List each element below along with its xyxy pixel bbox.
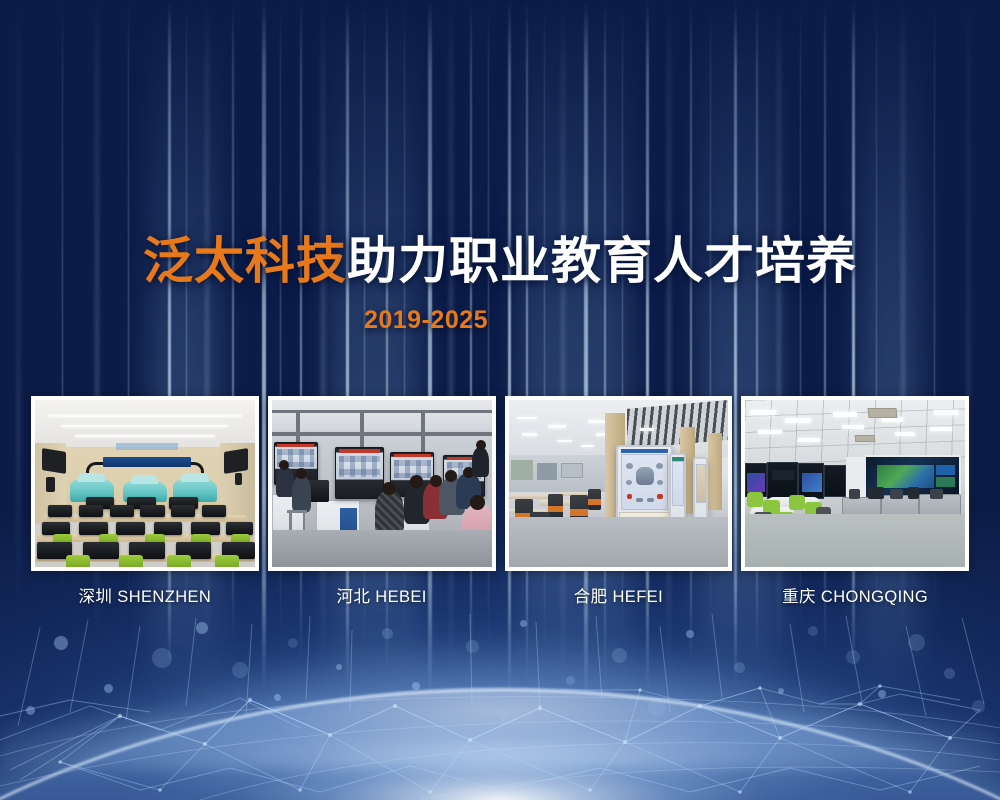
photo-captions: 深圳 SHENZHEN 河北 HEBEI 合肥 HEFEI 重庆 CHONGQI… — [31, 584, 969, 610]
gallery-photo-chongqing[interactable] — [741, 396, 969, 571]
year-range: 2019-2025 — [0, 306, 1000, 335]
gallery-photo-shenzhen[interactable] — [31, 396, 259, 571]
photo-image-hefei — [509, 400, 729, 567]
poster-canvas: 泛太科技助力职业教育人才培养 2019-2025 — [0, 0, 1000, 800]
caption-shenzhen: 深圳 SHENZHEN — [31, 584, 259, 610]
headline: 泛太科技助力职业教育人才培养 — [0, 231, 1000, 291]
title-rest: 助力职业教育人才培养 — [347, 233, 857, 289]
main-title: 泛太科技助力职业教育人才培养 — [0, 231, 1000, 291]
photo-image-shenzhen — [35, 400, 255, 567]
caption-hefei: 合肥 HEFEI — [505, 584, 733, 610]
gallery-photo-hebei[interactable] — [268, 396, 496, 571]
brand-name: 泛太科技 — [143, 233, 347, 289]
photo-image-chongqing — [745, 400, 965, 567]
photo-gallery — [31, 396, 969, 571]
globe-rim — [0, 688, 1000, 800]
caption-chongqing: 重庆 CHONGQING — [741, 584, 969, 610]
caption-hebei: 河北 HEBEI — [268, 584, 496, 610]
gallery-photo-hefei[interactable] — [505, 396, 733, 571]
photo-image-hebei — [272, 400, 492, 567]
